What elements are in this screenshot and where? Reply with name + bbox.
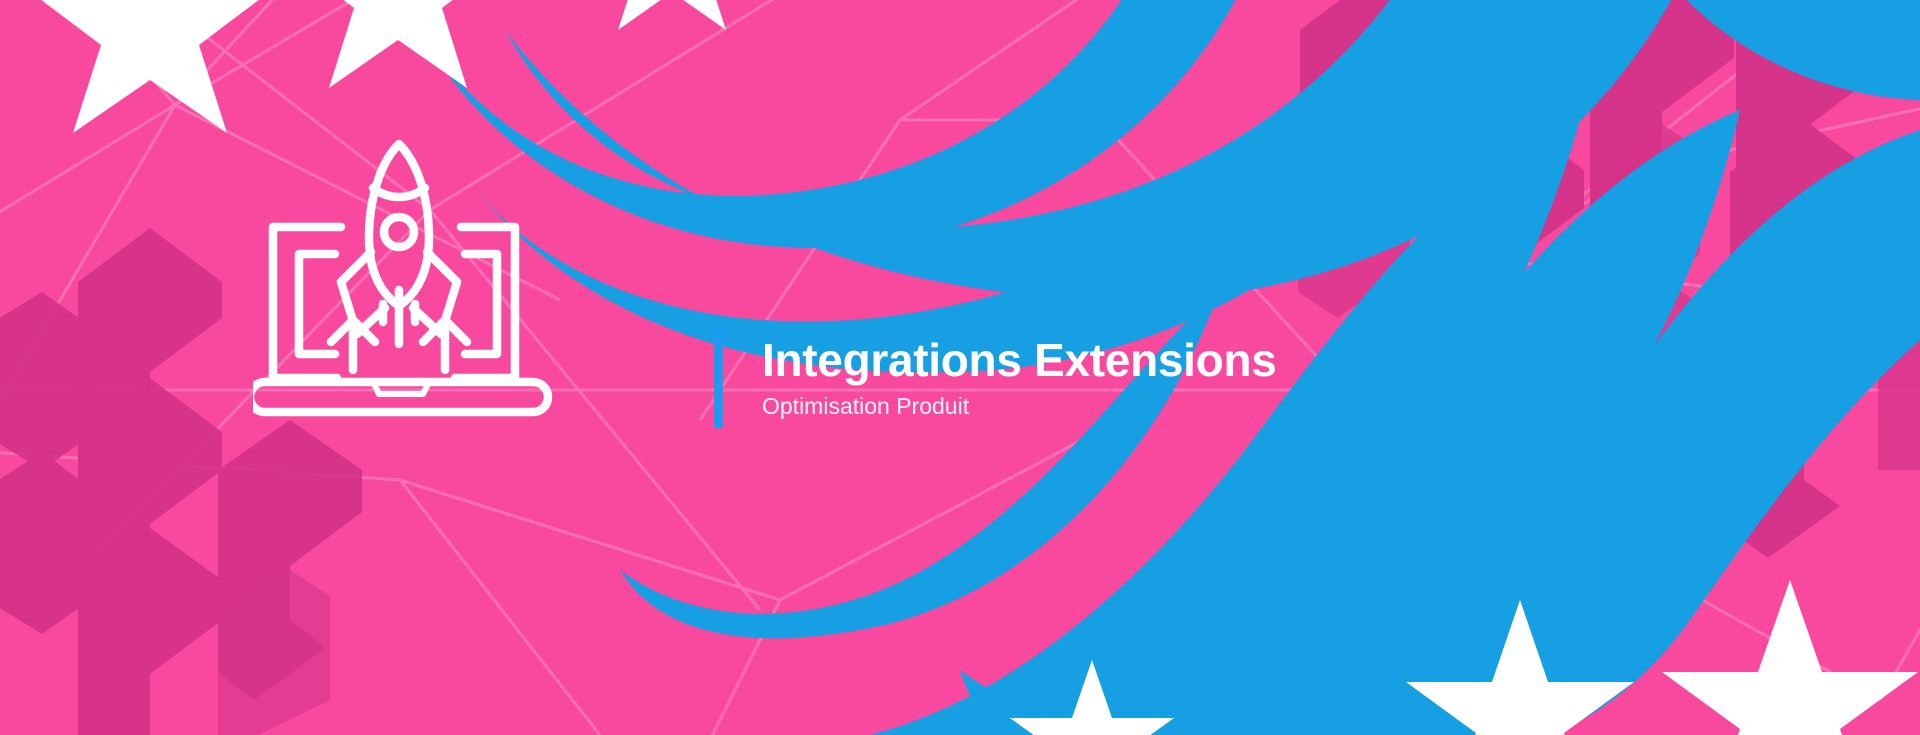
star-icon bbox=[28, 0, 272, 133]
star-icon bbox=[1010, 660, 1174, 735]
rocket-launch-laptop-icon bbox=[253, 130, 553, 430]
accent-bar bbox=[714, 328, 723, 428]
rocket-window bbox=[384, 217, 414, 247]
hero-text-block: Integrations Extensions Optimisation Pro… bbox=[723, 328, 1277, 428]
star-icon bbox=[288, 0, 508, 88]
hero-content: Integrations Extensions Optimisation Pro… bbox=[714, 328, 1277, 428]
page-subtitle: Optimisation Produit bbox=[762, 393, 1277, 421]
star-icon bbox=[586, 0, 758, 30]
star-icon bbox=[1662, 580, 1918, 735]
hero-banner: Integrations Extensions Optimisation Pro… bbox=[0, 0, 1920, 735]
rocket-nose-line bbox=[373, 188, 425, 197]
laptop-notch bbox=[373, 382, 429, 394]
star-icon bbox=[1406, 600, 1634, 735]
page-title: Integrations Extensions bbox=[762, 335, 1277, 387]
rocket-body bbox=[369, 144, 429, 306]
